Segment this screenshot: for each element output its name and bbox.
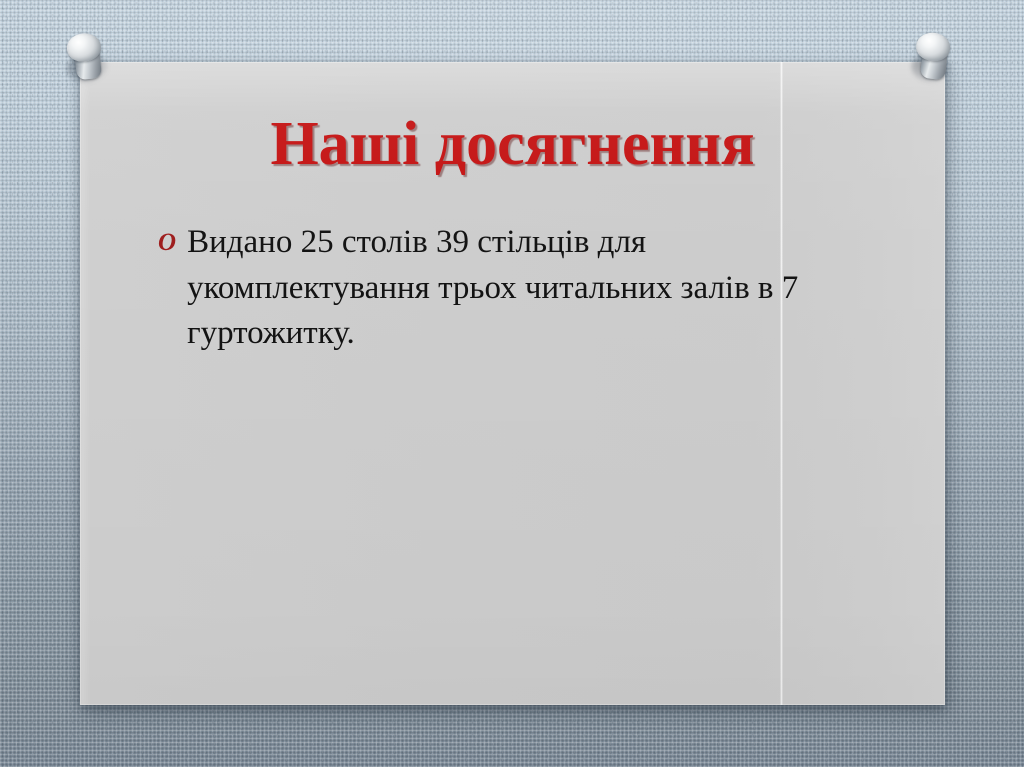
slide-title: Наші досягнення: [80, 112, 945, 177]
presentation-slide: Наші досягнення O Видано 25 столів 39 ст…: [0, 0, 1024, 767]
list-item-text: Видано 25 столів 39 стільців для укомпле…: [187, 220, 858, 357]
list-item: O Видано 25 столів 39 стільців для укомп…: [158, 220, 858, 357]
circle-bullet-icon: O: [158, 220, 176, 255]
bullet-list: O Видано 25 столів 39 стільців для укомп…: [158, 220, 858, 357]
content-board: Наші досягнення O Видано 25 столів 39 ст…: [80, 62, 945, 705]
